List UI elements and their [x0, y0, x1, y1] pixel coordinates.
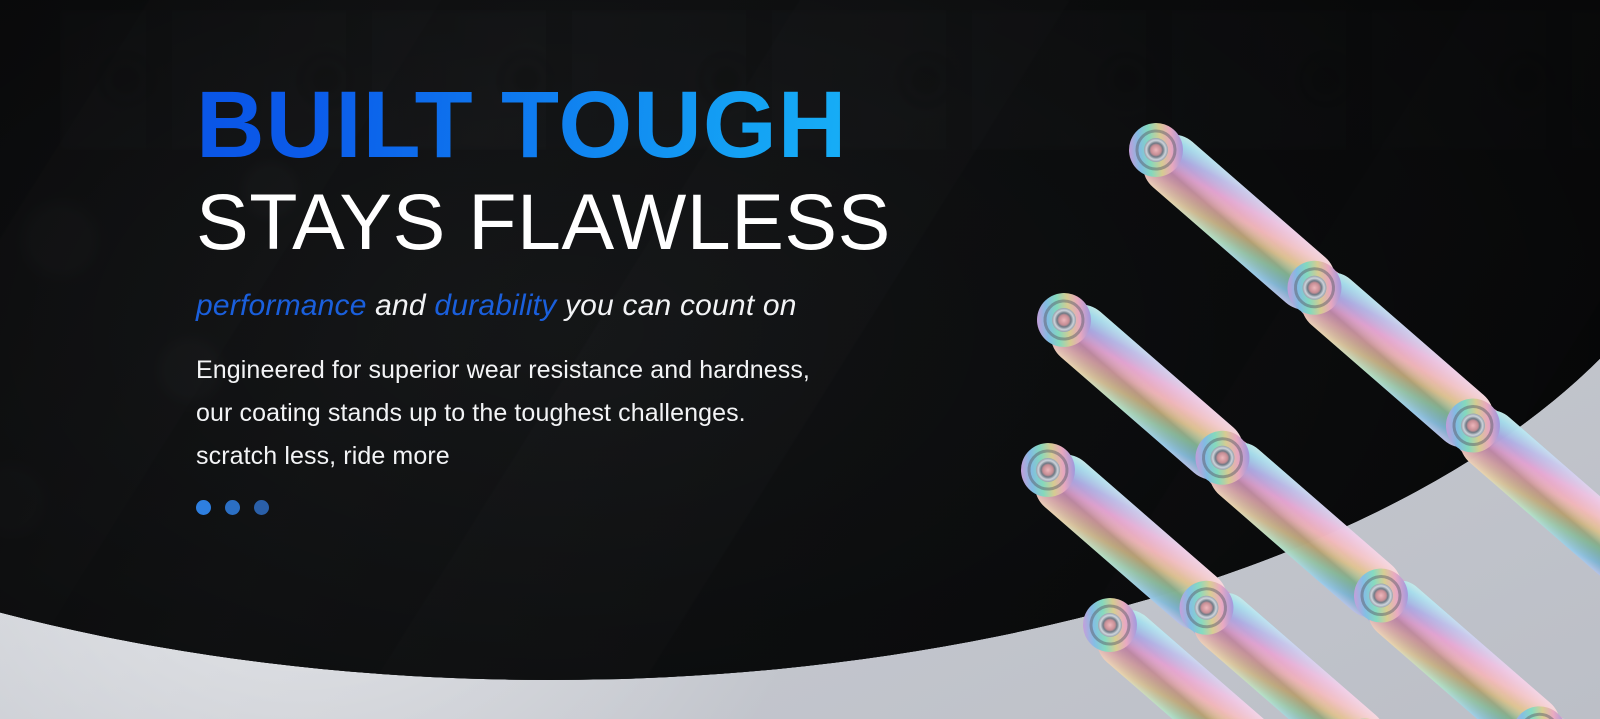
carousel-dots[interactable]	[196, 500, 956, 515]
hero-copy: BUILT TOUGH STAYS FLAWLESS performance a…	[196, 78, 956, 515]
carousel-dot-1[interactable]	[196, 500, 211, 515]
body-line-1: Engineered for superior wear resistance …	[196, 349, 956, 392]
carousel-dot-3[interactable]	[254, 500, 269, 515]
tagline-conjunction: and	[367, 289, 435, 322]
tagline: performance and durability you can count…	[196, 289, 956, 323]
tagline-suffix: you can count on	[556, 289, 796, 322]
tagline-highlight-durability: durability	[434, 289, 556, 322]
tagline-highlight-performance: performance	[196, 289, 367, 322]
hero-banner: BUILT TOUGH STAYS FLAWLESS performance a…	[0, 0, 1600, 719]
body-line-3: scratch less, ride more	[196, 435, 956, 478]
body-copy: Engineered for superior wear resistance …	[196, 349, 956, 478]
headline: BUILT TOUGH	[196, 78, 956, 173]
body-line-2: our coating stands up to the toughest ch…	[196, 392, 956, 435]
subheadline: STAYS FLAWLESS	[196, 181, 956, 263]
carousel-dot-2[interactable]	[225, 500, 240, 515]
